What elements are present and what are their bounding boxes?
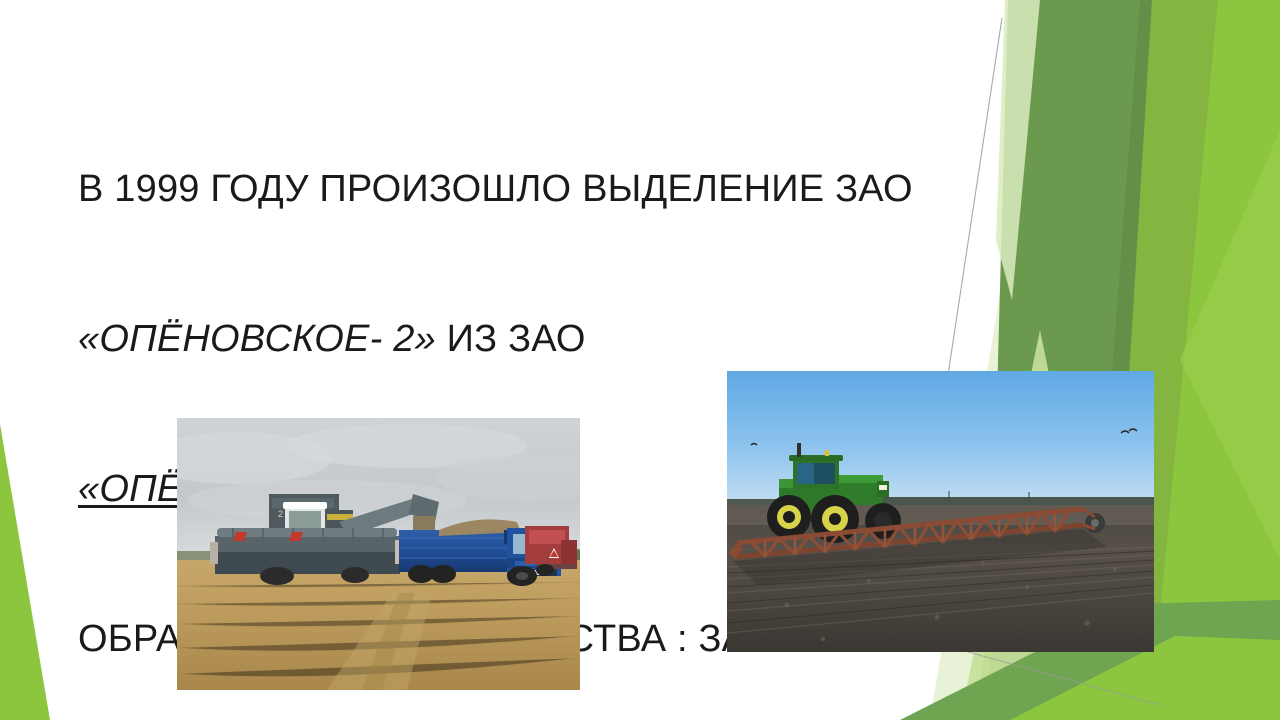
svg-text:2: 2 [278,509,283,519]
title-line-1: В 1999 ГОДУ ПРОИЗОШЛО ВЫДЕЛЕНИЕ ЗАО [78,164,958,214]
combine-harvester-photo: 2 [177,418,580,690]
decor-right-highlight-triangle [1180,130,1280,560]
title-line-2-italic: «ОПЁНОВСКОЕ- 2» [78,318,436,360]
decor-right-pale-wedge-upper [996,0,1040,300]
presentation-slide: В 1999 ГОДУ ПРОИЗОШЛО ВЫДЕЛЕНИЕ ЗАО «ОПЁ… [0,0,1280,720]
decor-right-edge-band [1150,0,1280,720]
tractor-harrow-photo [727,371,1154,652]
title-line-2: «ОПЁНОВСКОЕ- 2» ИЗ ЗАО [78,314,958,364]
decor-left-wedge [0,424,50,720]
title-line-2-normal: ИЗ ЗАО [436,318,586,360]
